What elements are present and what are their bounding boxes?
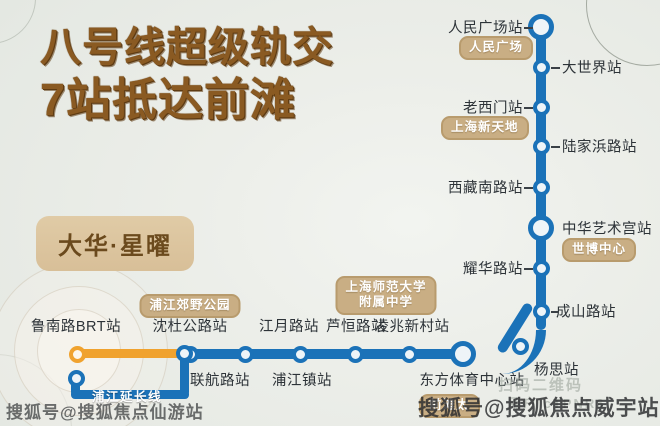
station-label-lujiabang-lu: 陆家浜路站 [562, 136, 637, 157]
station-dot-shendu-gonglu[interactable] [176, 345, 193, 362]
badge-shanghai-shifan-fuzhong: 上海师范大学 附属中学 [335, 276, 436, 315]
estate-name-plaque: 大华·星曜 [36, 216, 194, 271]
station-dot-jiangyue-lu[interactable] [237, 346, 254, 363]
leader-tick-dashijie [551, 67, 560, 69]
headline-line-2: 7站抵达前滩 [40, 74, 334, 126]
station-label-chengshan-lu: 成山路站 [556, 301, 616, 322]
station-dot-zhonghua-yishugong[interactable] [528, 215, 554, 241]
rail-line-brt-orange [76, 349, 184, 358]
badge-renmin-guangchang: 人民广场 [459, 36, 533, 60]
headline-line-1: 八号线超级轨交 [40, 24, 334, 70]
station-label-dashijie: 大世界站 [562, 57, 622, 78]
station-dot-xizang-nan-lu[interactable] [533, 179, 550, 196]
badge-line-2: 附属中学 [345, 295, 426, 310]
station-dot-pujiang-extension-terminus[interactable] [68, 370, 85, 387]
station-dot-dongfang-tiyu-zhongxin[interactable] [450, 341, 476, 367]
station-label-pujiang-zhen: 浦江镇站 [272, 369, 332, 390]
station-label-renmin-guangchang: 人民广场站 [448, 17, 523, 38]
rail-line-horizontal-main [175, 349, 475, 359]
decorative-arc-top-left [0, 0, 36, 44]
leader-tick-laoximen [524, 107, 533, 109]
leader-tick-lujiabang-lu [551, 146, 560, 148]
station-label-jiangyue-lu: 江月路站 [259, 315, 319, 336]
leader-tick-renmin-guangchang [524, 27, 533, 29]
badge-line-1: 上海师范大学 [345, 280, 426, 295]
station-dot-laoximen[interactable] [533, 99, 550, 116]
badge-shibo-zhongxin: 世博中心 [562, 238, 636, 262]
station-dot-lingzhao-xincun[interactable] [401, 346, 418, 363]
station-label-lunan-lu-brt: 鲁南路BRT站 [31, 315, 121, 336]
leader-tick-xizang-nan-lu [524, 187, 533, 189]
station-label-lianhang-lu: 联航路站 [190, 369, 250, 390]
headline-block: 八号线超级轨交 7站抵达前滩 [40, 24, 334, 126]
leader-tick-yaohua-lu [524, 268, 533, 270]
station-dot-luheng-lu[interactable] [347, 346, 364, 363]
station-dot-pujiang-zhen[interactable] [292, 346, 309, 363]
badge-shanghai-xintiandi: 上海新天地 [441, 116, 529, 140]
station-dot-dashijie[interactable] [533, 59, 550, 76]
station-label-yaohua-lu: 耀华路站 [463, 258, 523, 279]
badge-pujiang-jiaoye-gongyuan: 浦江郊野公园 [139, 294, 240, 318]
estate-name-text: 大华·星曜 [58, 226, 172, 261]
station-label-zhonghua-yishugong: 中华艺术宫站 [562, 218, 652, 239]
station-label-shendu-gonglu: 沈杜公路站 [153, 315, 228, 336]
station-dot-yaohua-lu[interactable] [533, 260, 550, 277]
station-dot-lujiabang-lu[interactable] [533, 138, 550, 155]
leader-tick-chengshan-lu [551, 311, 558, 313]
station-dot-yangsi[interactable] [512, 338, 529, 355]
station-label-xizang-nan-lu: 西藏南路站 [448, 177, 523, 198]
station-dot-lunan-lu-brt[interactable] [69, 346, 86, 363]
station-label-laoximen: 老西门站 [463, 97, 523, 118]
station-label-luheng-lu: 芦恒路站 [326, 315, 386, 336]
watermark-bottom-left: 搜狐号@搜狐焦点仙游站 [6, 398, 204, 423]
metro-line-infographic: 八号线超级轨交 7站抵达前滩 大华·星曜 浦江延长线 人民广场站 大世界站 老西… [0, 0, 660, 426]
station-dot-chengshan-lu[interactable] [533, 303, 550, 320]
watermark-center: 搜狐号@搜狐焦点威宇站 [418, 392, 659, 422]
